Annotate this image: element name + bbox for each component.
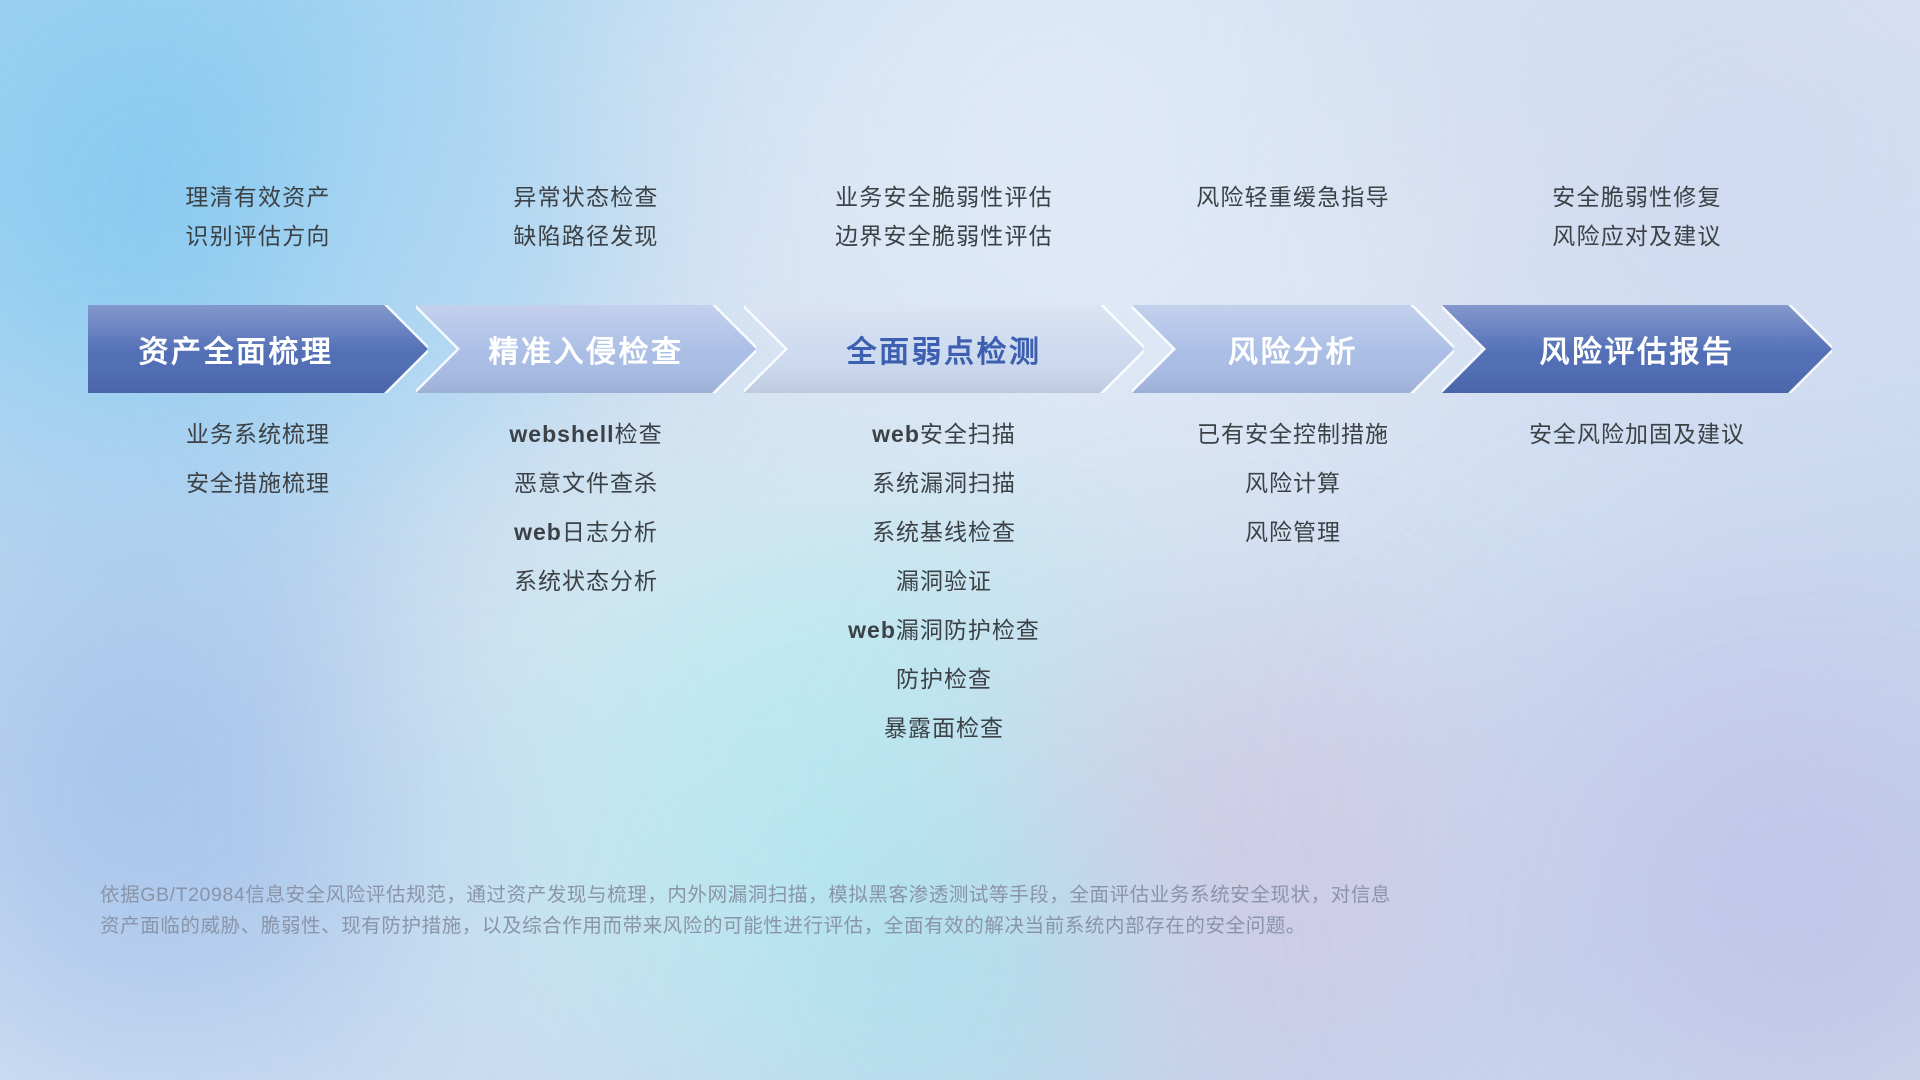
detail-list-item: 安全措施梳理 xyxy=(186,459,330,508)
detail-list-3: web安全扫描系统漏洞扫描系统基线检查漏洞验证web漏洞防护检查防护检查暴露面检… xyxy=(848,410,1040,753)
top-label-line: 风险应对及建议 xyxy=(1552,225,1721,248)
detail-list-item: 系统漏洞扫描 xyxy=(872,459,1016,508)
top-label-group-3: 业务安全脆弱性评估边界安全脆弱性评估 xyxy=(835,186,1053,248)
detail-list-2: webshell检查恶意文件查杀web日志分析系统状态分析 xyxy=(509,410,662,606)
top-label-line: 缺陷路径发现 xyxy=(513,225,658,248)
footer-description: 依据GB/T20984信息安全风险评估规范，通过资产发现与梳理，内外网漏洞扫描，… xyxy=(100,880,1660,942)
detail-list-item: web漏洞防护检查 xyxy=(848,606,1040,655)
top-label-line: 风险轻重缓急指导 xyxy=(1196,186,1390,209)
top-label-group-1: 理清有效资产识别评估方向 xyxy=(185,186,330,248)
detail-list-item: 风险管理 xyxy=(1245,508,1341,557)
chevron-process-bar: 资产全面梳理精准入侵检查全面弱点检测风险分析风险评估报告 xyxy=(0,305,1920,393)
chevron-label-1: 资产全面梳理 xyxy=(88,327,428,371)
detail-list-5: 安全风险加固及建议 xyxy=(1529,410,1745,459)
top-label-line: 业务安全脆弱性评估 xyxy=(835,186,1053,209)
top-label-group-5: 安全脆弱性修复风险应对及建议 xyxy=(1552,186,1721,248)
chevron-label-4: 风险分析 xyxy=(1132,327,1454,371)
detail-list-item: 恶意文件查杀 xyxy=(514,459,658,508)
chevron-label-3: 全面弱点检测 xyxy=(744,327,1144,371)
detail-list-item: 暴露面检查 xyxy=(884,704,1004,753)
detail-list-item: 安全风险加固及建议 xyxy=(1529,410,1745,459)
chevron-label-5: 风险评估报告 xyxy=(1442,327,1832,371)
detail-list-1: 业务系统梳理安全措施梳理 xyxy=(186,410,330,508)
chevron-stage-1[interactable]: 资产全面梳理 xyxy=(88,305,428,393)
chevron-stage-5[interactable]: 风险评估报告 xyxy=(1442,305,1832,393)
detail-list-item: 系统状态分析 xyxy=(514,557,658,606)
detail-list-item: web日志分析 xyxy=(514,508,658,557)
top-label-line: 异常状态检查 xyxy=(513,186,658,209)
top-label-group-2: 异常状态检查缺陷路径发现 xyxy=(513,186,658,248)
top-label-line: 安全脆弱性修复 xyxy=(1552,186,1721,209)
top-label-line: 理清有效资产 xyxy=(185,186,330,209)
footer-line: 依据GB/T20984信息安全风险评估规范，通过资产发现与梳理，内外网漏洞扫描，… xyxy=(100,880,1660,911)
chevron-label-2: 精准入侵检查 xyxy=(416,327,756,371)
chevron-stage-4[interactable]: 风险分析 xyxy=(1132,305,1454,393)
detail-list-item: 防护检查 xyxy=(896,655,992,704)
footer-line: 资产面临的威胁、脆弱性、现有防护措施，以及综合作用而带来风险的可能性进行评估，全… xyxy=(100,911,1660,942)
top-label-group-4: 风险轻重缓急指导 xyxy=(1196,186,1390,209)
top-labels-row: 理清有效资产识别评估方向异常状态检查缺陷路径发现业务安全脆弱性评估边界安全脆弱性… xyxy=(0,186,1920,282)
detail-list-item: 业务系统梳理 xyxy=(186,410,330,459)
detail-list-item: 系统基线检查 xyxy=(872,508,1016,557)
detail-list-4: 已有安全控制措施风险计算风险管理 xyxy=(1197,410,1389,557)
detail-list-item: 已有安全控制措施 xyxy=(1197,410,1389,459)
detail-list-item: 漏洞验证 xyxy=(896,557,992,606)
chevron-stage-3[interactable]: 全面弱点检测 xyxy=(744,305,1144,393)
top-label-line: 识别评估方向 xyxy=(185,225,330,248)
process-diagram: 理清有效资产识别评估方向异常状态检查缺陷路径发现业务安全脆弱性评估边界安全脆弱性… xyxy=(0,0,1920,1080)
chevron-stage-2[interactable]: 精准入侵检查 xyxy=(416,305,756,393)
top-label-line: 边界安全脆弱性评估 xyxy=(835,225,1053,248)
detail-list-item: web安全扫描 xyxy=(872,410,1016,459)
detail-list-item: webshell检查 xyxy=(509,410,662,459)
detail-list-item: 风险计算 xyxy=(1245,459,1341,508)
